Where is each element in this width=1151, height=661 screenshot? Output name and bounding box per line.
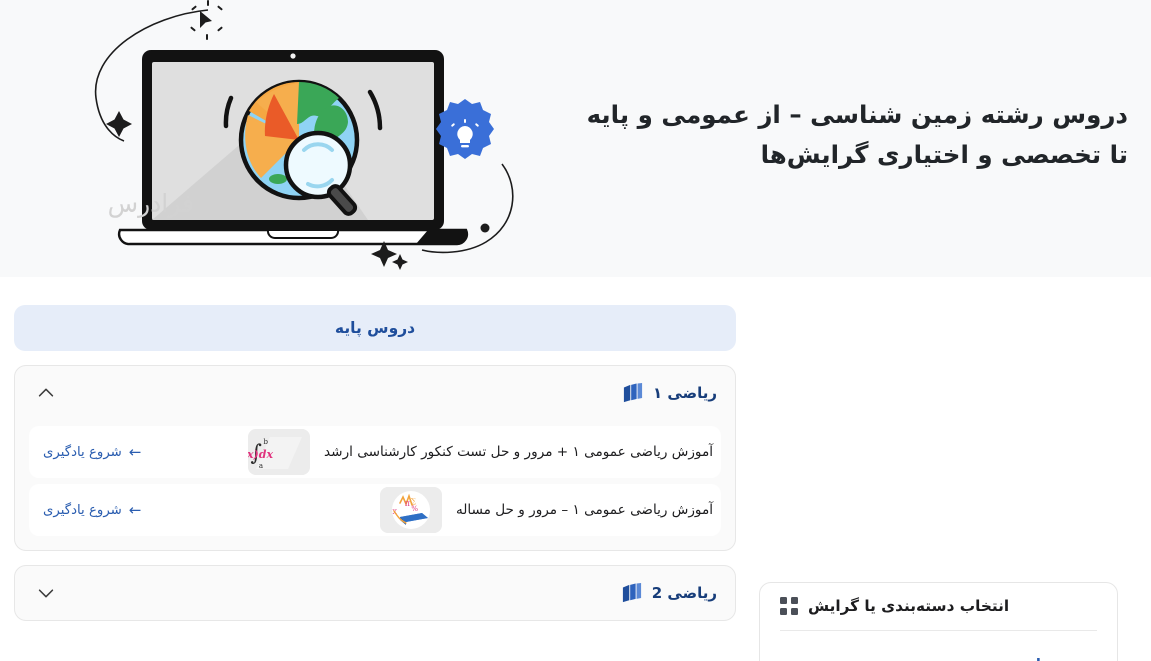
chevron-down-icon[interactable] <box>35 582 57 604</box>
accordion-title-text: ریاضی ۱ <box>653 384 717 402</box>
accordion-title-text: ریاضی 2 <box>652 584 717 602</box>
cursor-arrow-icon <box>190 0 223 40</box>
category-sidebar: انتخاب دسته‌بندی یا گرایش دروس پایه دروس… <box>759 582 1118 661</box>
arrow-left-icon: ← <box>129 445 142 460</box>
course-row[interactable]: π ∑ x % آموزش ریاضی عمومی ۱ – مرور و حل … <box>29 484 721 536</box>
sidebar-header-title: انتخاب دسته‌بندی یا گرایش <box>808 597 1009 615</box>
sparkle-icon <box>106 111 132 137</box>
start-learning-link[interactable]: شروع یادگیری ← <box>43 445 141 460</box>
accordion-title-group: ریاضی 2 <box>621 583 717 603</box>
accordion-header-riazi-1[interactable]: ریاضی ۱ <box>15 366 735 420</box>
page-title: دروس رشته زمین شناسی – از عمومی و پایه ت… <box>568 95 1128 174</box>
svg-text:b: b <box>264 438 269 446</box>
svg-text:f(x)dx: f(x)dx <box>248 448 273 461</box>
content-area: دروس پایه ریاضی ۱ <box>0 277 1151 661</box>
math-symbols-book-thumbnail: π ∑ x % <box>380 487 442 533</box>
hero-section: فرادرس <box>0 0 1151 277</box>
start-learning-label: شروع یادگیری <box>43 445 122 460</box>
lightbulb-badge-icon <box>436 99 494 159</box>
svg-text:%: % <box>411 505 418 513</box>
section-banner-label: دروس پایه <box>335 319 415 337</box>
sidebar-item-doros-paye[interactable]: دروس پایه <box>780 647 1097 661</box>
accordion-title-group: ریاضی ۱ <box>622 383 717 403</box>
integral-formula-thumbnail: ∫ b a f(x)dx <box>248 429 310 475</box>
course-title: آموزش ریاضی عمومی ۱ + مرور و حل تست کنکو… <box>324 444 713 460</box>
grid-icon <box>780 597 798 615</box>
start-learning-label: شروع یادگیری <box>43 503 122 518</box>
course-row[interactable]: ∫ b a f(x)dx آموزش ریاضی عمومی ۱ + مرور … <box>29 426 721 478</box>
hero-illustration: فرادرس <box>78 0 528 277</box>
course-info: π ∑ x % آموزش ریاضی عمومی ۱ – مرور و حل … <box>380 487 713 533</box>
sparkle-icon-2 <box>371 241 408 270</box>
accordion-body-riazi-1: ∫ b a f(x)dx آموزش ریاضی عمومی ۱ + مرور … <box>15 426 735 550</box>
accordion-riazi-1: ریاضی ۱ ∫ b a f(x) <box>14 365 736 551</box>
course-list-column: دروس پایه ریاضی ۱ <box>14 305 736 621</box>
watermark-text: فرادرس <box>108 189 194 218</box>
svg-text:∑: ∑ <box>411 497 416 505</box>
course-title: آموزش ریاضی عمومی ۱ – مرور و حل مساله <box>456 502 713 518</box>
svg-text:π: π <box>405 499 410 508</box>
dot-decoration <box>481 224 490 233</box>
section-banner: دروس پایه <box>14 305 736 351</box>
svg-text:a: a <box>259 462 263 470</box>
books-icon <box>621 583 643 603</box>
accordion-header-riazi-2[interactable]: ریاضی 2 <box>15 566 735 620</box>
arrow-left-icon: ← <box>129 503 142 518</box>
accordion-riazi-2: ریاضی 2 <box>14 565 736 621</box>
chevron-up-icon[interactable] <box>35 382 57 404</box>
start-learning-link[interactable]: شروع یادگیری ← <box>43 503 141 518</box>
sidebar-item-list: دروس پایه دروس اصلی دروس تخصصی <box>780 631 1097 661</box>
books-icon <box>622 383 644 403</box>
course-info: ∫ b a f(x)dx آموزش ریاضی عمومی ۱ + مرور … <box>248 429 713 475</box>
sidebar-header: انتخاب دسته‌بندی یا گرایش <box>780 583 1097 631</box>
